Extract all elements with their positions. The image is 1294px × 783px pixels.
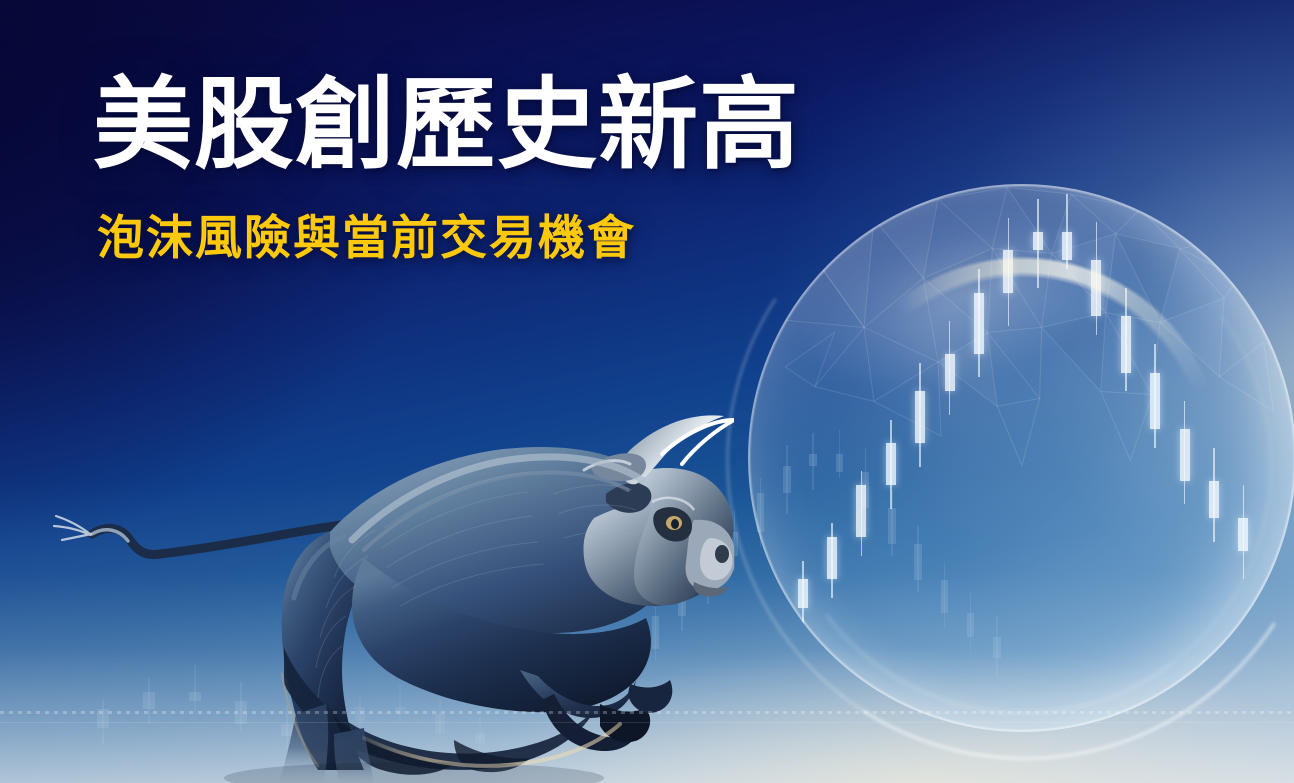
bubble-rim-warm-highlight (742, 178, 1294, 738)
stock-market-banner: 美股創歷史新高 泡沫風險與當前交易機會 (0, 0, 1294, 783)
page-title: 美股創歷史新高 (93, 72, 800, 178)
horizon-line-secondary (0, 722, 1294, 723)
bubble-sphere (748, 184, 1294, 732)
headline-block: 美股創歷史新高 泡沫風險與當前交易機會 (93, 72, 800, 264)
bull-icon (34, 398, 734, 783)
page-subtitle: 泡沫風險與當前交易機會 (97, 212, 800, 264)
horizon-line (0, 711, 1294, 714)
bull-illustration (34, 398, 734, 783)
